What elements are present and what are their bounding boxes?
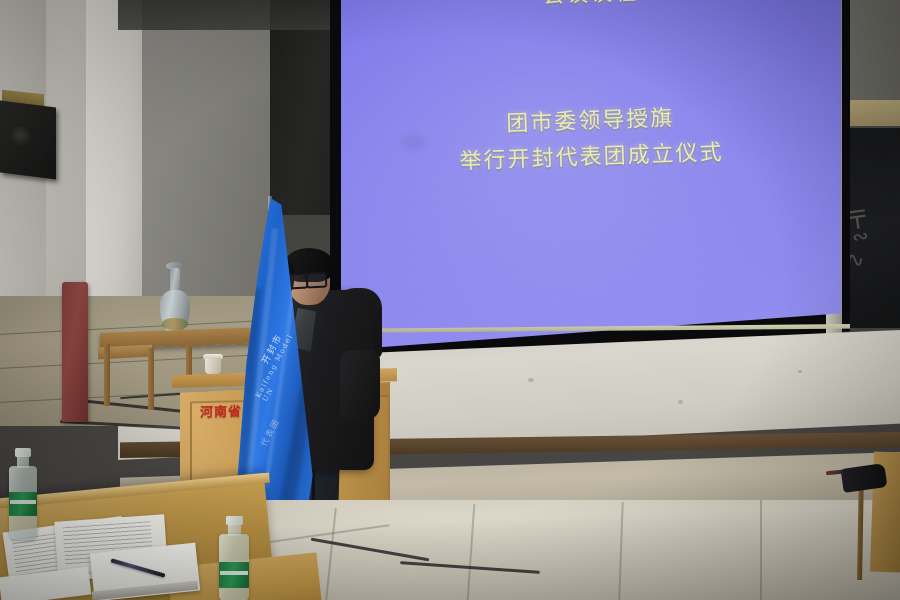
glasses-bridge (303, 276, 308, 278)
vase-decoration (162, 318, 188, 330)
wall-column-near (86, 0, 142, 330)
mid-wall (140, 0, 270, 340)
table-leg (104, 344, 110, 406)
projection-screen: 会议议程 团市委领导授旗 举行开封代表团成立仪式 (341, 0, 841, 350)
glasses-icon (306, 271, 328, 288)
person-arm (340, 350, 380, 420)
photo-scene: 〒 ∾ ∿ 会议议程 团市委领导授旗 举行开封代表团成立仪式 (0, 0, 900, 600)
water-bottle (216, 516, 252, 600)
red-curtain-banner (62, 282, 88, 422)
table-leg (148, 348, 154, 410)
paper-cup (205, 358, 221, 374)
water-bottle (6, 448, 40, 540)
chalk-mark-icon: ∾ (850, 223, 870, 249)
